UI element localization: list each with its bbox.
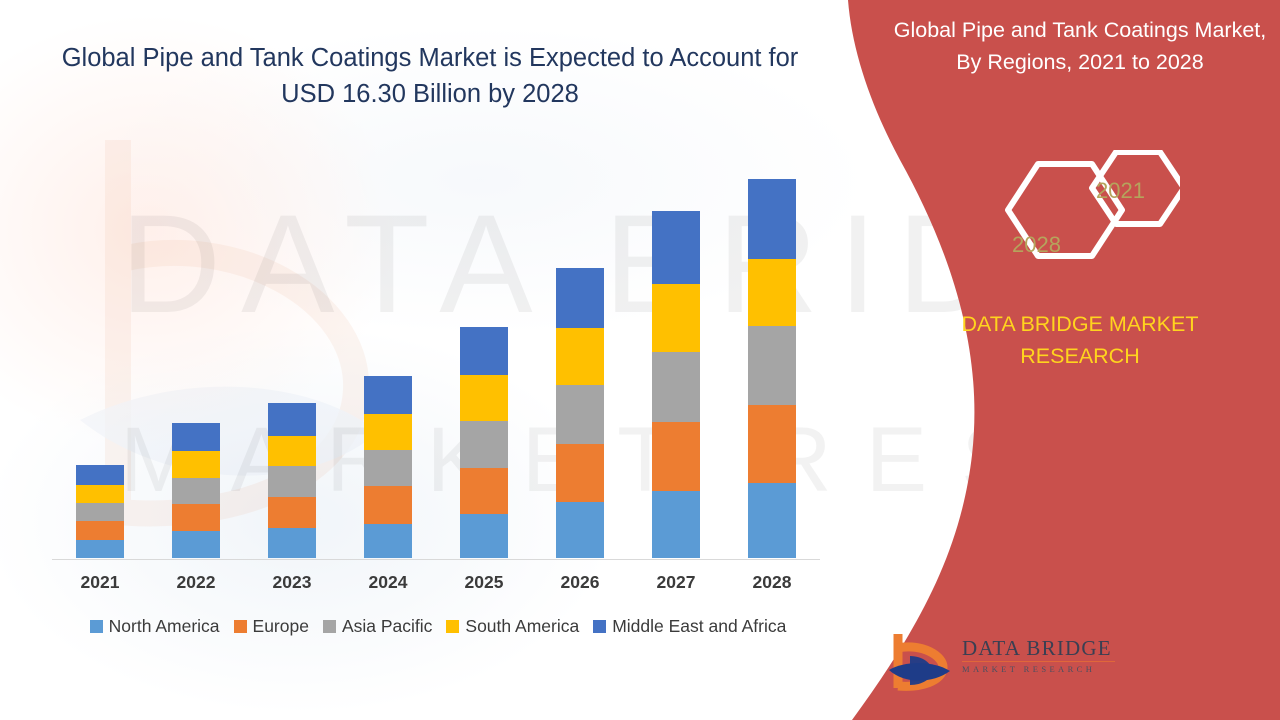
logo-sub-text: MARKET RESEARCH <box>962 664 1117 674</box>
bar-segment[interactable] <box>652 284 700 352</box>
bar-segment[interactable] <box>268 528 316 558</box>
hexagon-label-2021: 2021 <box>1096 178 1145 204</box>
bar-segment[interactable] <box>556 444 604 502</box>
bar-segment[interactable] <box>76 503 124 520</box>
x-axis-label-2024: 2024 <box>340 572 436 593</box>
bar-segment[interactable] <box>172 478 220 504</box>
hexagon-label-2028: 2028 <box>1012 232 1061 258</box>
legend-swatch-icon <box>323 620 336 633</box>
stacked-bar[interactable] <box>460 327 508 558</box>
legend-item-middle-east-and-africa[interactable]: Middle East and Africa <box>593 616 786 637</box>
x-axis-label-2023: 2023 <box>244 572 340 593</box>
bar-segment[interactable] <box>748 405 796 483</box>
bar-group-2028 <box>724 150 820 558</box>
bar-segment[interactable] <box>460 514 508 558</box>
stacked-bar[interactable] <box>268 403 316 558</box>
data-bridge-b-mark-icon <box>888 630 952 692</box>
legend-label: Middle East and Africa <box>612 616 786 637</box>
bar-segment[interactable] <box>460 327 508 375</box>
bar-segment[interactable] <box>172 531 220 558</box>
stacked-bar[interactable] <box>748 179 796 558</box>
bar-segment[interactable] <box>652 211 700 283</box>
bar-segment[interactable] <box>364 486 412 523</box>
bar-segment[interactable] <box>268 466 316 496</box>
brand-name-text: DATA BRIDGE MARKET RESEARCH <box>900 308 1260 372</box>
bar-segment[interactable] <box>748 179 796 259</box>
legend-label: Europe <box>253 616 309 637</box>
bar-segment[interactable] <box>652 491 700 558</box>
bar-segment[interactable] <box>172 451 220 478</box>
stacked-bar[interactable] <box>172 423 220 558</box>
bar-segment[interactable] <box>364 524 412 558</box>
bar-segment[interactable] <box>76 485 124 503</box>
bar-group-2027 <box>628 150 724 558</box>
bar-series-container <box>52 150 820 558</box>
bar-segment[interactable] <box>460 375 508 421</box>
chart-legend: North AmericaEuropeAsia PacificSouth Ame… <box>52 616 824 637</box>
stacked-bar[interactable] <box>652 211 700 558</box>
right-panel-content: Global Pipe and Tank Coatings Market, By… <box>880 0 1280 720</box>
legend-swatch-icon <box>234 620 247 633</box>
legend-swatch-icon <box>593 620 606 633</box>
hexagon-badges: 2021 2028 <box>980 150 1180 295</box>
bar-segment[interactable] <box>556 328 604 385</box>
bar-segment[interactable] <box>652 422 700 491</box>
bar-group-2021 <box>52 150 148 558</box>
bar-segment[interactable] <box>748 259 796 326</box>
stacked-bar[interactable] <box>364 376 412 558</box>
legend-item-europe[interactable]: Europe <box>234 616 309 637</box>
legend-swatch-icon <box>446 620 459 633</box>
stacked-bar[interactable] <box>76 465 124 558</box>
bar-segment[interactable] <box>364 450 412 487</box>
legend-label: South America <box>465 616 579 637</box>
bar-segment[interactable] <box>76 465 124 485</box>
page-title: Global Pipe and Tank Coatings Market is … <box>60 40 800 112</box>
logo-wordmark: DATA BRIDGE MARKET RESEARCH <box>962 636 1117 674</box>
x-axis-labels: 20212022202320242025202620272028 <box>52 572 820 593</box>
data-bridge-logo: DATA BRIDGE MARKET RESEARCH <box>888 628 1118 696</box>
x-axis-label-2027: 2027 <box>628 572 724 593</box>
legend-item-north-america[interactable]: North America <box>90 616 220 637</box>
x-axis-label-2022: 2022 <box>148 572 244 593</box>
bar-segment[interactable] <box>556 385 604 444</box>
legend-label: Asia Pacific <box>342 616 432 637</box>
bar-segment[interactable] <box>556 502 604 558</box>
bar-segment[interactable] <box>172 423 220 451</box>
bar-segment[interactable] <box>268 403 316 436</box>
x-axis-line <box>52 559 820 560</box>
left-chart-panel: DATA BRIDGE MARKET RESEARCH Global Pipe … <box>0 0 880 720</box>
bar-group-2024 <box>340 150 436 558</box>
x-axis-label-2028: 2028 <box>724 572 820 593</box>
stacked-bar[interactable] <box>556 268 604 558</box>
x-axis-label-2026: 2026 <box>532 572 628 593</box>
panel-title: Global Pipe and Tank Coatings Market, By… <box>890 14 1270 78</box>
bar-segment[interactable] <box>748 483 796 558</box>
bar-segment[interactable] <box>364 414 412 450</box>
x-axis-label-2025: 2025 <box>436 572 532 593</box>
legend-item-asia-pacific[interactable]: Asia Pacific <box>323 616 432 637</box>
bar-group-2022 <box>148 150 244 558</box>
bar-group-2023 <box>244 150 340 558</box>
x-axis-label-2021: 2021 <box>52 572 148 593</box>
slide-canvas: DATA BRIDGE MARKET RESEARCH Global Pipe … <box>0 0 1280 720</box>
logo-divider <box>962 661 1115 662</box>
bar-segment[interactable] <box>460 468 508 514</box>
bar-group-2026 <box>532 150 628 558</box>
hexagon-outline-icons <box>980 150 1180 295</box>
legend-swatch-icon <box>90 620 103 633</box>
bar-segment[interactable] <box>76 540 124 558</box>
legend-item-south-america[interactable]: South America <box>446 616 579 637</box>
bar-segment[interactable] <box>652 352 700 423</box>
bar-segment[interactable] <box>556 268 604 329</box>
bar-segment[interactable] <box>460 421 508 468</box>
bar-segment[interactable] <box>268 436 316 467</box>
bar-segment[interactable] <box>172 504 220 531</box>
bar-segment[interactable] <box>748 326 796 405</box>
bar-segment[interactable] <box>268 497 316 529</box>
bar-group-2025 <box>436 150 532 558</box>
chart-plot-area <box>52 150 820 560</box>
bar-segment[interactable] <box>364 376 412 414</box>
logo-main-text: DATA BRIDGE <box>962 636 1117 660</box>
bar-segment[interactable] <box>76 521 124 540</box>
legend-label: North America <box>109 616 220 637</box>
